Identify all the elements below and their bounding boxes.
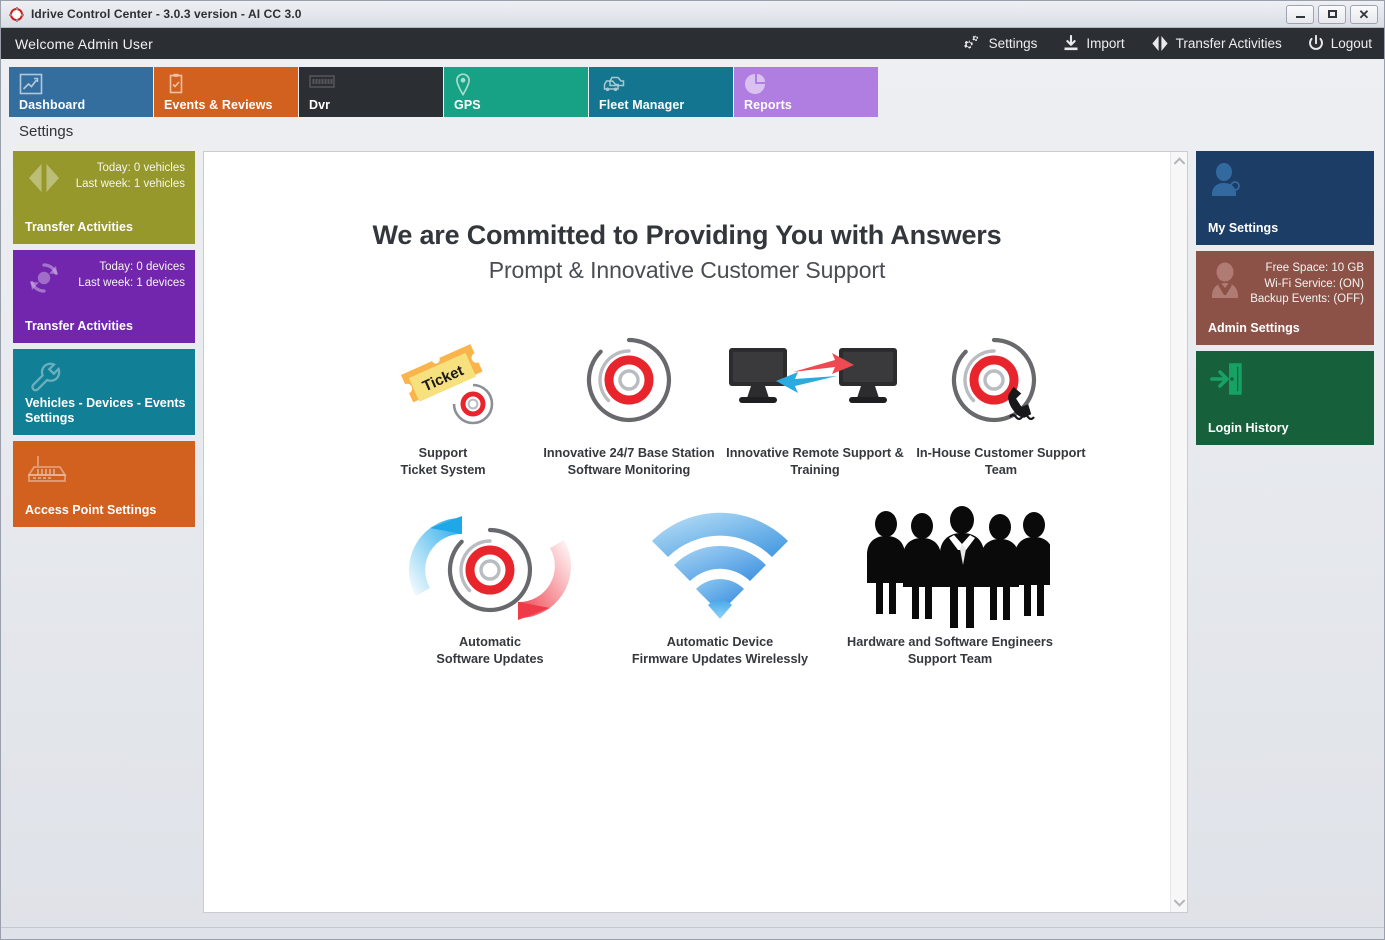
user-profile-icon — [1209, 162, 1243, 203]
nav-tab-events-reviews[interactable]: Events & Reviews — [154, 67, 298, 117]
welcome-message: Welcome Admin User — [15, 36, 153, 52]
maximize-icon — [1328, 10, 1337, 18]
content-scroll-area: We are Committed to Providing You with A… — [204, 152, 1170, 912]
tile-access-point-settings[interactable]: Access Point Settings — [13, 441, 195, 527]
right-sidebar: My Settings Free Space: 10 GB Wi-Fi Serv… — [1196, 151, 1374, 913]
tile-stat-line: Last week: 1 devices — [78, 276, 185, 292]
feature-label-line2: Software Monitoring — [543, 462, 714, 479]
window-title: Idrive Control Center - 3.0.3 version - … — [31, 7, 302, 21]
application-window: Idrive Control Center - 3.0.3 version - … — [0, 0, 1385, 940]
transfer-arrows-icon — [1151, 35, 1169, 52]
feature-hardware-software-engineers: Hardware and Software Engineers Support … — [835, 517, 1065, 668]
pie-chart-icon — [744, 73, 766, 100]
feature-label-line2: Training — [726, 462, 904, 479]
tile-vehicles-devices-events-settings[interactable]: Vehicles - Devices - Events Settings — [13, 349, 195, 435]
tile-stat-line: Today: 0 devices — [78, 260, 185, 276]
header-transfer-activities-button[interactable]: Transfer Activities — [1151, 35, 1282, 52]
feature-automatic-software-updates: Automatic Software Updates — [375, 517, 605, 668]
tile-stats: Today: 0 devices Last week: 1 devices — [78, 260, 185, 291]
remote-monitors-icon — [725, 328, 905, 432]
wrench-icon — [26, 360, 64, 399]
chart-trend-icon — [19, 73, 43, 100]
tile-label: My Settings — [1208, 221, 1366, 236]
nav-tab-reports-label: Reports — [744, 98, 792, 112]
close-button[interactable]: ✕ — [1350, 5, 1378, 24]
page-body: Today: 0 vehicles Last week: 1 vehicles … — [1, 151, 1384, 927]
gears-icon — [961, 34, 982, 53]
features-row-1: Ticket Support Ticket S — [204, 328, 1170, 479]
dvr-device-icon — [309, 73, 335, 97]
wifi-signal-icon — [644, 517, 796, 621]
clipboard-check-icon — [164, 73, 188, 100]
tile-transfer-activities-vehicles[interactable]: Today: 0 vehicles Last week: 1 vehicles … — [13, 151, 195, 244]
power-icon — [1308, 35, 1324, 52]
tile-login-history[interactable]: Login History — [1196, 351, 1374, 445]
window-controls: ✕ — [1286, 5, 1380, 24]
router-icon — [26, 452, 68, 491]
target-phone-icon — [948, 328, 1054, 432]
header-import-label: Import — [1086, 36, 1124, 51]
feature-label-line1: Innovative 24/7 Base Station — [543, 445, 714, 462]
tile-label: Transfer Activities — [25, 319, 187, 334]
nav-tab-dashboard-label: Dashboard — [19, 98, 85, 112]
maximize-button[interactable] — [1318, 5, 1346, 24]
feature-label: Hardware and Software Engineers Support … — [847, 634, 1053, 668]
nav-tab-gps[interactable]: GPS — [444, 67, 588, 117]
tile-stat-line: Free Space: 10 GB — [1250, 261, 1364, 277]
feature-label-line1: Automatic Device — [632, 634, 808, 651]
hero-headline: We are Committed to Providing You with A… — [204, 218, 1170, 252]
scroll-down-button[interactable] — [1171, 894, 1187, 912]
feature-label: In-House Customer Support Team — [916, 445, 1085, 479]
tile-stat-line: Wi-Fi Service: (ON) — [1250, 277, 1364, 293]
feature-remote-support-training: Innovative Remote Support & Training — [722, 328, 908, 479]
admin-user-icon — [1209, 262, 1241, 303]
title-bar: Idrive Control Center - 3.0.3 version - … — [1, 1, 1384, 28]
nav-tab-reports[interactable]: Reports — [734, 67, 878, 117]
feature-label-line1: Support — [400, 445, 485, 462]
feature-label: Automatic Software Updates — [436, 634, 543, 668]
team-silhouette-icon — [850, 517, 1050, 621]
tile-label: Vehicles - Devices - Events Settings — [25, 396, 187, 426]
tile-stats: Today: 0 vehicles Last week: 1 vehicles — [76, 161, 185, 192]
tile-my-settings[interactable]: My Settings — [1196, 151, 1374, 245]
nav-tab-fleet-manager[interactable]: Fleet Manager — [589, 67, 733, 117]
header-logout-label: Logout — [1331, 36, 1372, 51]
feature-in-house-support-team: In-House Customer Support Team — [908, 328, 1094, 479]
tile-stat-line: Backup Events: (OFF) — [1250, 292, 1364, 308]
feature-label-line2: Firmware Updates Wirelessly — [632, 651, 808, 668]
feature-label-line2: Ticket System — [400, 462, 485, 479]
content-panel: We are Committed to Providing You with A… — [203, 151, 1188, 913]
tile-admin-settings[interactable]: Free Space: 10 GB Wi-Fi Service: (ON) Ba… — [1196, 251, 1374, 345]
app-logo-icon — [9, 7, 24, 22]
header-import-button[interactable]: Import — [1063, 35, 1124, 52]
transfer-arrows-icon — [26, 162, 62, 199]
nav-tab-dvr-label: Dvr — [309, 98, 330, 112]
feature-label: Innovative 24/7 Base Station Software Mo… — [543, 445, 714, 479]
nav-tab-gps-label: GPS — [454, 98, 481, 112]
chevron-up-icon — [1174, 157, 1185, 165]
feature-label-line2: Software Updates — [436, 651, 543, 668]
tile-label: Transfer Activities — [25, 220, 187, 235]
feature-label-line2: Support Team — [847, 651, 1053, 668]
tile-stats: Free Space: 10 GB Wi-Fi Service: (ON) Ba… — [1250, 261, 1364, 308]
close-icon: ✕ — [1359, 8, 1370, 21]
vehicles-icon — [599, 73, 627, 98]
minimize-icon — [1296, 16, 1305, 18]
hero-subheadline: Prompt & Innovative Customer Support — [204, 257, 1170, 284]
header-actions: Settings Import Transf — [961, 34, 1372, 53]
main-navigation: Dashboard Events & Reviews — [1, 59, 1384, 117]
feature-label-line1: Automatic — [436, 634, 543, 651]
hero-section: We are Committed to Providing You with A… — [204, 152, 1170, 284]
sync-circle-icon — [26, 261, 62, 300]
status-bar — [1, 927, 1384, 939]
tile-label: Access Point Settings — [25, 503, 187, 518]
nav-tab-dvr[interactable]: Dvr — [299, 67, 443, 117]
feature-label: Support Ticket System — [400, 445, 485, 479]
minimize-button[interactable] — [1286, 5, 1314, 24]
feature-label: Innovative Remote Support & Training — [726, 445, 904, 479]
header-settings-button[interactable]: Settings — [961, 34, 1038, 53]
nav-tab-dashboard[interactable]: Dashboard — [9, 67, 153, 117]
feature-label: Automatic Device Firmware Updates Wirele… — [632, 634, 808, 668]
header-transfer-label: Transfer Activities — [1176, 36, 1282, 51]
feature-label-line2: Team — [916, 462, 1085, 479]
ticket-target-icon: Ticket — [391, 328, 495, 432]
feature-label-line1: Innovative Remote Support & — [726, 445, 904, 462]
page-title: Settings — [1, 117, 1384, 151]
feature-base-station-monitoring: Innovative 24/7 Base Station Software Mo… — [536, 328, 722, 479]
feature-label-line1: Hardware and Software Engineers — [847, 634, 1053, 651]
header-settings-label: Settings — [989, 36, 1038, 51]
tile-stat-line: Last week: 1 vehicles — [76, 177, 185, 193]
tile-label: Login History — [1208, 421, 1366, 436]
target-refresh-arrows-icon — [400, 517, 580, 621]
download-icon — [1063, 35, 1079, 52]
scroll-up-button[interactable] — [1171, 152, 1187, 170]
feature-support-ticket-system: Ticket Support Ticket S — [350, 328, 536, 479]
left-sidebar: Today: 0 vehicles Last week: 1 vehicles … — [13, 151, 195, 913]
tile-transfer-activities-devices[interactable]: Today: 0 devices Last week: 1 devices Tr… — [13, 250, 195, 343]
features-row-2: Automatic Software Updates — [204, 517, 1170, 668]
target-rings-icon — [583, 328, 675, 432]
feature-label-line1: In-House Customer Support — [916, 445, 1085, 462]
nav-tab-events-reviews-label: Events & Reviews — [164, 98, 273, 112]
login-door-icon — [1209, 362, 1243, 401]
header-logout-button[interactable]: Logout — [1308, 35, 1372, 52]
feature-device-firmware-updates: Automatic Device Firmware Updates Wirele… — [605, 517, 835, 668]
chevron-down-icon — [1174, 899, 1185, 907]
tile-label: Admin Settings — [1208, 321, 1366, 336]
tile-stat-line: Today: 0 vehicles — [76, 161, 185, 177]
content-scrollbar[interactable] — [1170, 152, 1187, 912]
nav-tab-fleet-manager-label: Fleet Manager — [599, 98, 684, 112]
app-header: Welcome Admin User Settings — [1, 28, 1384, 59]
